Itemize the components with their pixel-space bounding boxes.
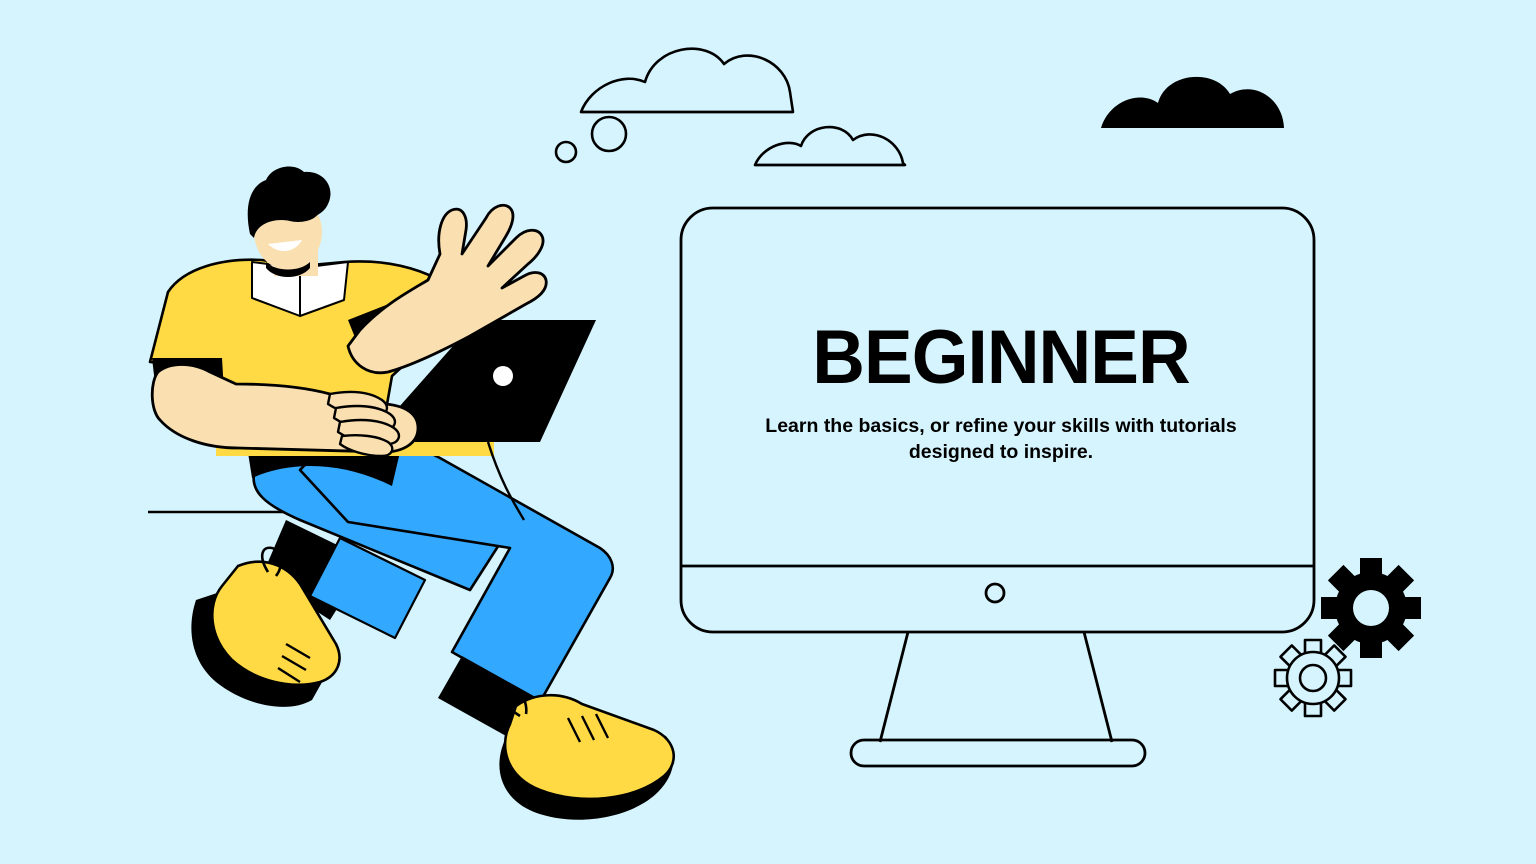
illustration-artboard: [0, 0, 1536, 864]
character-hair-top: [276, 196, 320, 222]
monitor-body: [681, 208, 1314, 632]
gear-large-solid: [1321, 558, 1421, 658]
laptop-logo-dot: [493, 366, 513, 386]
monitor-stand-base: [851, 740, 1145, 766]
gear-small-outline: [1275, 640, 1351, 716]
banner-canvas: BEGINNER Learn the basics, or refine you…: [0, 0, 1536, 864]
